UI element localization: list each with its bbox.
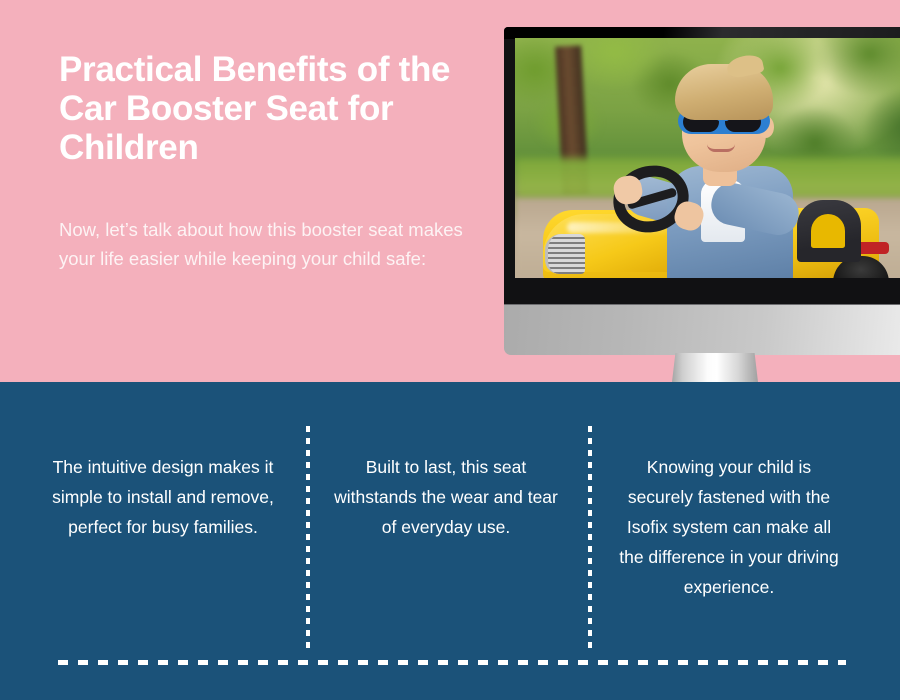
monitor-stand-neck <box>670 353 760 382</box>
monitor-bezel <box>504 27 900 305</box>
benefit-item-durability: Built to last, this seat withstands the … <box>331 452 561 542</box>
benefit-item-isofix-security: Knowing your child is securely fastened … <box>614 452 844 602</box>
monitor-screen-photo <box>515 38 900 278</box>
bottom-dotted-rule <box>58 660 846 665</box>
monitor-illustration <box>504 27 900 327</box>
column-divider-1 <box>306 426 310 652</box>
hero-subtitle: Now, let’s talk about how this booster s… <box>59 215 474 273</box>
benefit-item-easy-install: The intuitive design makes it simple to … <box>48 452 278 542</box>
column-divider-2 <box>588 426 592 652</box>
photo-child-smile <box>707 144 735 152</box>
hero-section: Practical Benefits of the Car Booster Se… <box>0 0 900 382</box>
photo-toy-car-seat-opening <box>811 214 845 248</box>
monitor-chin <box>504 305 900 355</box>
photo-toy-car-grille <box>545 234 585 274</box>
page-title: Practical Benefits of the Car Booster Se… <box>59 50 479 167</box>
